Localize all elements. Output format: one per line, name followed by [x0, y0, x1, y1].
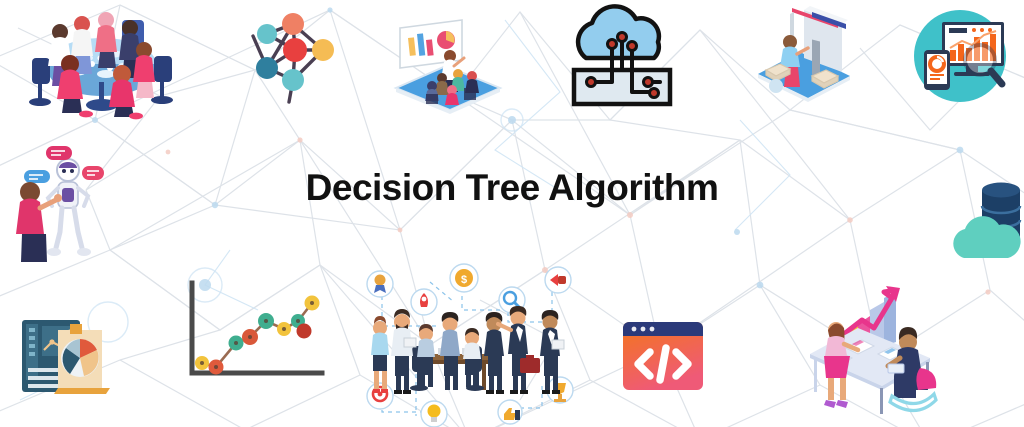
svg-text:$: $ [461, 274, 467, 286]
illustration-business-team: $ [352, 266, 592, 426]
illustration-presentation [388, 14, 508, 114]
illustration-desk-workspace [796, 284, 946, 420]
illustration-cloud-computing [556, 4, 686, 110]
illustration-team-meeting [14, 2, 189, 120]
page-title: Decision Tree Algorithm [0, 166, 1024, 210]
illustration-line-chart [178, 277, 328, 387]
illustration-neural-network [245, 6, 350, 96]
illustration-analytics-report [14, 308, 116, 403]
illustration-data-analytics [906, 4, 1014, 108]
illustration-kiosk-operator [750, 2, 858, 102]
illustration-code-window [618, 316, 708, 396]
banner: $ [0, 0, 1024, 427]
